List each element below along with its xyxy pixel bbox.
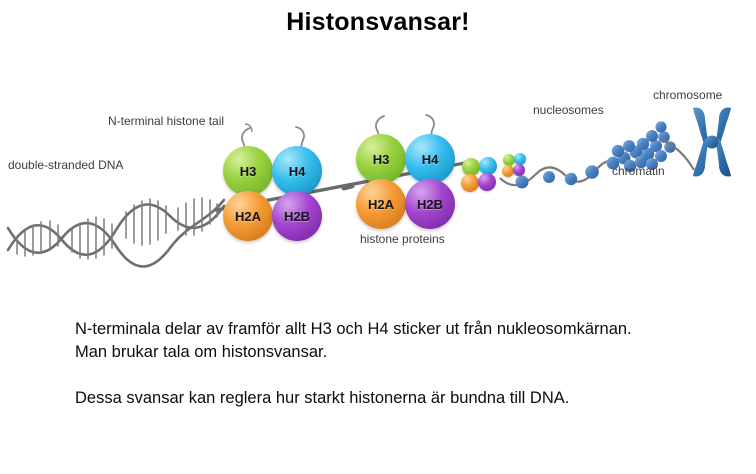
label-double-stranded-dna: double-stranded DNA <box>8 158 123 172</box>
chromosome-icon <box>693 108 731 177</box>
paragraph-spacer <box>75 364 715 387</box>
histone-sphere-h2b: H2B <box>405 179 455 229</box>
histone-sphere-h4: H4 <box>272 146 322 196</box>
label-chromatin: chromatin <box>612 164 665 178</box>
histone-sphere-h2b <box>478 173 496 191</box>
histone-sphere-h2b: H2B <box>272 191 322 241</box>
page-title: Histonsvansar! <box>0 8 756 37</box>
dna-helix-icon <box>8 198 224 267</box>
histone-sphere-h2a: H2A <box>356 179 406 229</box>
label-nucleosomes: nucleosomes <box>533 103 604 117</box>
label-n-terminal-histone-tail: N-terminal histone tail <box>108 114 224 128</box>
body-line-2: Man brukar tala om histonsvansar. <box>75 341 715 364</box>
histone-sphere-h2b <box>513 164 525 176</box>
histone-sphere-h2a: H2A <box>223 191 273 241</box>
label-histone-proteins: histone proteins <box>360 232 445 246</box>
histone-sphere-h3: H3 <box>223 146 273 196</box>
slide-canvas: Histonsvansar! <box>0 0 756 474</box>
body-line-1: N-terminala delar av framför allt H3 och… <box>75 318 715 341</box>
histone-sphere-h4: H4 <box>405 134 455 184</box>
slide-body-text: N-terminala delar av framför allt H3 och… <box>75 318 715 410</box>
label-chromosome: chromosome <box>653 88 722 102</box>
body-line-3: Dessa svansar kan reglera hur starkt his… <box>75 387 715 410</box>
histone-sphere-h2a <box>461 174 479 192</box>
histone-sphere-h3: H3 <box>356 134 406 184</box>
chromatin-packaging-diagram: H3 H4 H2A H2B H3 H4 H2A H2B double-stran… <box>0 78 756 273</box>
